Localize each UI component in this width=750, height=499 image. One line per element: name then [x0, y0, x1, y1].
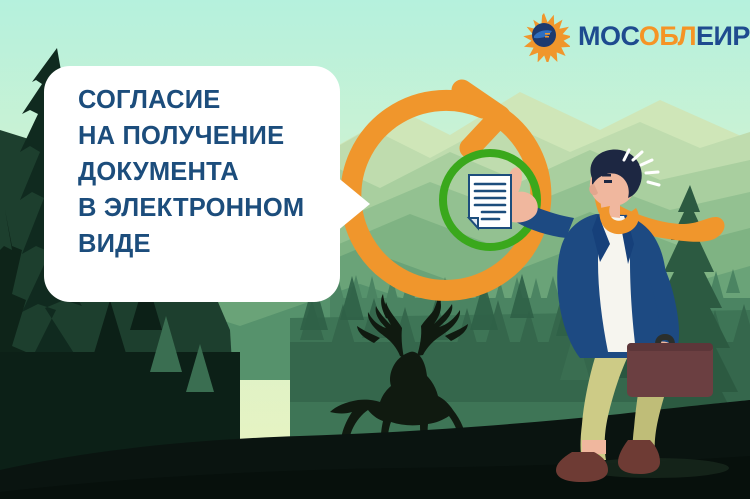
ankle-front: [582, 440, 606, 454]
brand-wordmark: МОСОБЛЕИРЦ: [578, 23, 750, 50]
brand-wordmark-part-2: ОБЛ: [639, 21, 696, 51]
eyebrow: [602, 174, 611, 177]
headline-line-5: ВИДЕ: [78, 226, 348, 262]
sun-flame-icon: [518, 10, 570, 62]
banner-root: СОГЛАСИЕ НА ПОЛУЧЕНИЕ ДОКУМЕНТА В ЭЛЕКТР…: [0, 0, 750, 499]
headline-line-4: В ЭЛЕКТРОННОМ: [78, 190, 348, 226]
eye: [604, 180, 612, 183]
headline-text: СОГЛАСИЕ НА ПОЛУЧЕНИЕ ДОКУМЕНТА В ЭЛЕКТР…: [78, 82, 348, 262]
brand-logo[interactable]: МОСОБЛЕИРЦ: [518, 10, 742, 62]
headline-line-2: НА ПОЛУЧЕНИЕ: [78, 118, 348, 154]
brand-wordmark-part-3: ЕИРЦ: [696, 21, 750, 51]
headline-line-1: СОГЛАСИЕ: [78, 82, 348, 118]
brand-wordmark-part-1: МОС: [578, 21, 639, 51]
document-icon: [469, 175, 511, 228]
headline-line-3: ДОКУМЕНТА: [78, 154, 348, 190]
briefcase: [627, 334, 713, 397]
